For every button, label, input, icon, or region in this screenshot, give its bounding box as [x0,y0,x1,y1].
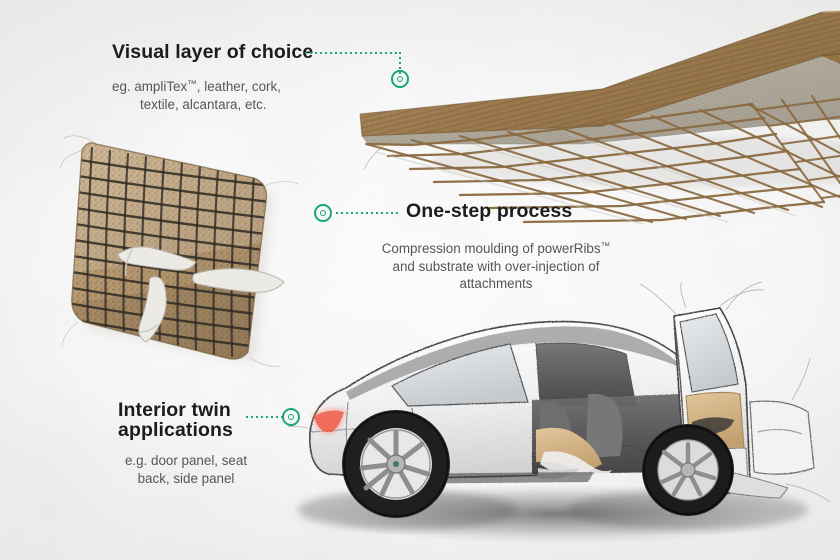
callout-one-step-process: One-step process [406,201,706,222]
marker-one-step-process[interactable] [314,204,334,224]
marker-dot-icon [288,414,294,420]
connector-visual-layer-horizontal [305,52,400,54]
marker-interior-applications[interactable] [282,408,302,428]
infographic-canvas: Visual layer of choice eg. ampliTex™, le… [0,0,840,560]
marker-visual-layer[interactable] [391,70,411,90]
marker-dot-icon [320,210,326,216]
callout-body-interior-applications: e.g. door panel, seat back, side panel [86,452,286,487]
callout-body-visual-layer: eg. ampliTex™, leather, cork,textile, al… [112,76,412,113]
connector-one-step-process [336,212,398,214]
callout-title-line-1: Interior twin [118,399,231,421]
callout-body-line-1: e.g. door panel, seat [86,452,286,470]
callout-body-line-2: and substrate with over-injection of [346,258,646,276]
callout-body-line-2: textile, alcantara, etc. [140,96,267,114]
callout-body-line-2: back, side panel [86,470,286,488]
callout-body-line-3: attachments [346,275,646,293]
callout-body-line-1: eg. ampliTex™, leather, cork, [112,79,281,94]
callout-title-one-step-process: One-step process [406,201,706,222]
callout-title-line-2: applications [118,419,233,441]
marker-dot-icon [397,76,403,82]
callout-body-line-1: Compression moulding of powerRibs™ [346,238,646,258]
callout-body-one-step-process: Compression moulding of powerRibs™ and s… [346,238,646,293]
connector-interior-applications [246,416,286,418]
